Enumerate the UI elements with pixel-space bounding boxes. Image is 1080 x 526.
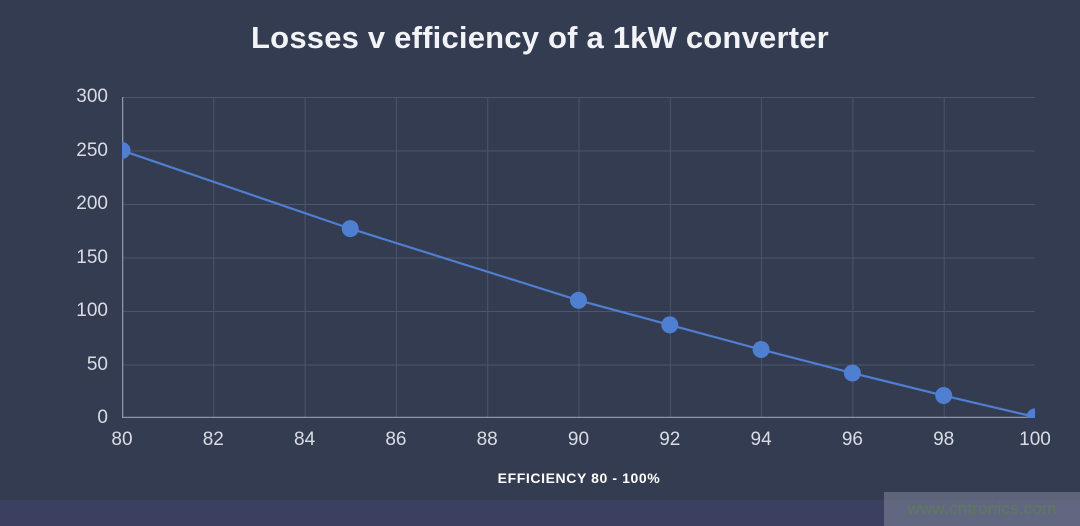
data-point-marker [753, 341, 770, 358]
x-tick-label: 96 [817, 430, 887, 449]
x-tick-label: 86 [361, 430, 431, 449]
data-point-marker [661, 316, 678, 333]
chart-card: Losses v efficiency of a 1kW converter L… [0, 0, 1080, 500]
watermark: www.cntronics.com [884, 492, 1080, 526]
x-tick-label: 94 [726, 430, 796, 449]
watermark-text: www.cntronics.com [908, 499, 1057, 519]
line-chart-canvas [122, 97, 1035, 418]
plot-area [122, 97, 1035, 418]
x-tick-label: 84 [270, 430, 340, 449]
x-tick-label: 82 [178, 430, 248, 449]
x-tick-label: 90 [544, 430, 614, 449]
data-point-marker [570, 292, 587, 309]
data-point-marker [122, 142, 131, 159]
data-point-marker [935, 387, 952, 404]
x-tick-label: 98 [909, 430, 979, 449]
data-point-marker [342, 220, 359, 237]
chart-screenshot: Losses v efficiency of a 1kW converter L… [0, 0, 1080, 526]
x-tick-label: 88 [452, 430, 522, 449]
data-point-marker [1027, 408, 1036, 418]
x-tick-label: 92 [635, 430, 705, 449]
x-tick-label: 80 [87, 430, 157, 449]
data-point-marker [844, 365, 861, 382]
x-tick-label: 100 [1000, 430, 1070, 449]
